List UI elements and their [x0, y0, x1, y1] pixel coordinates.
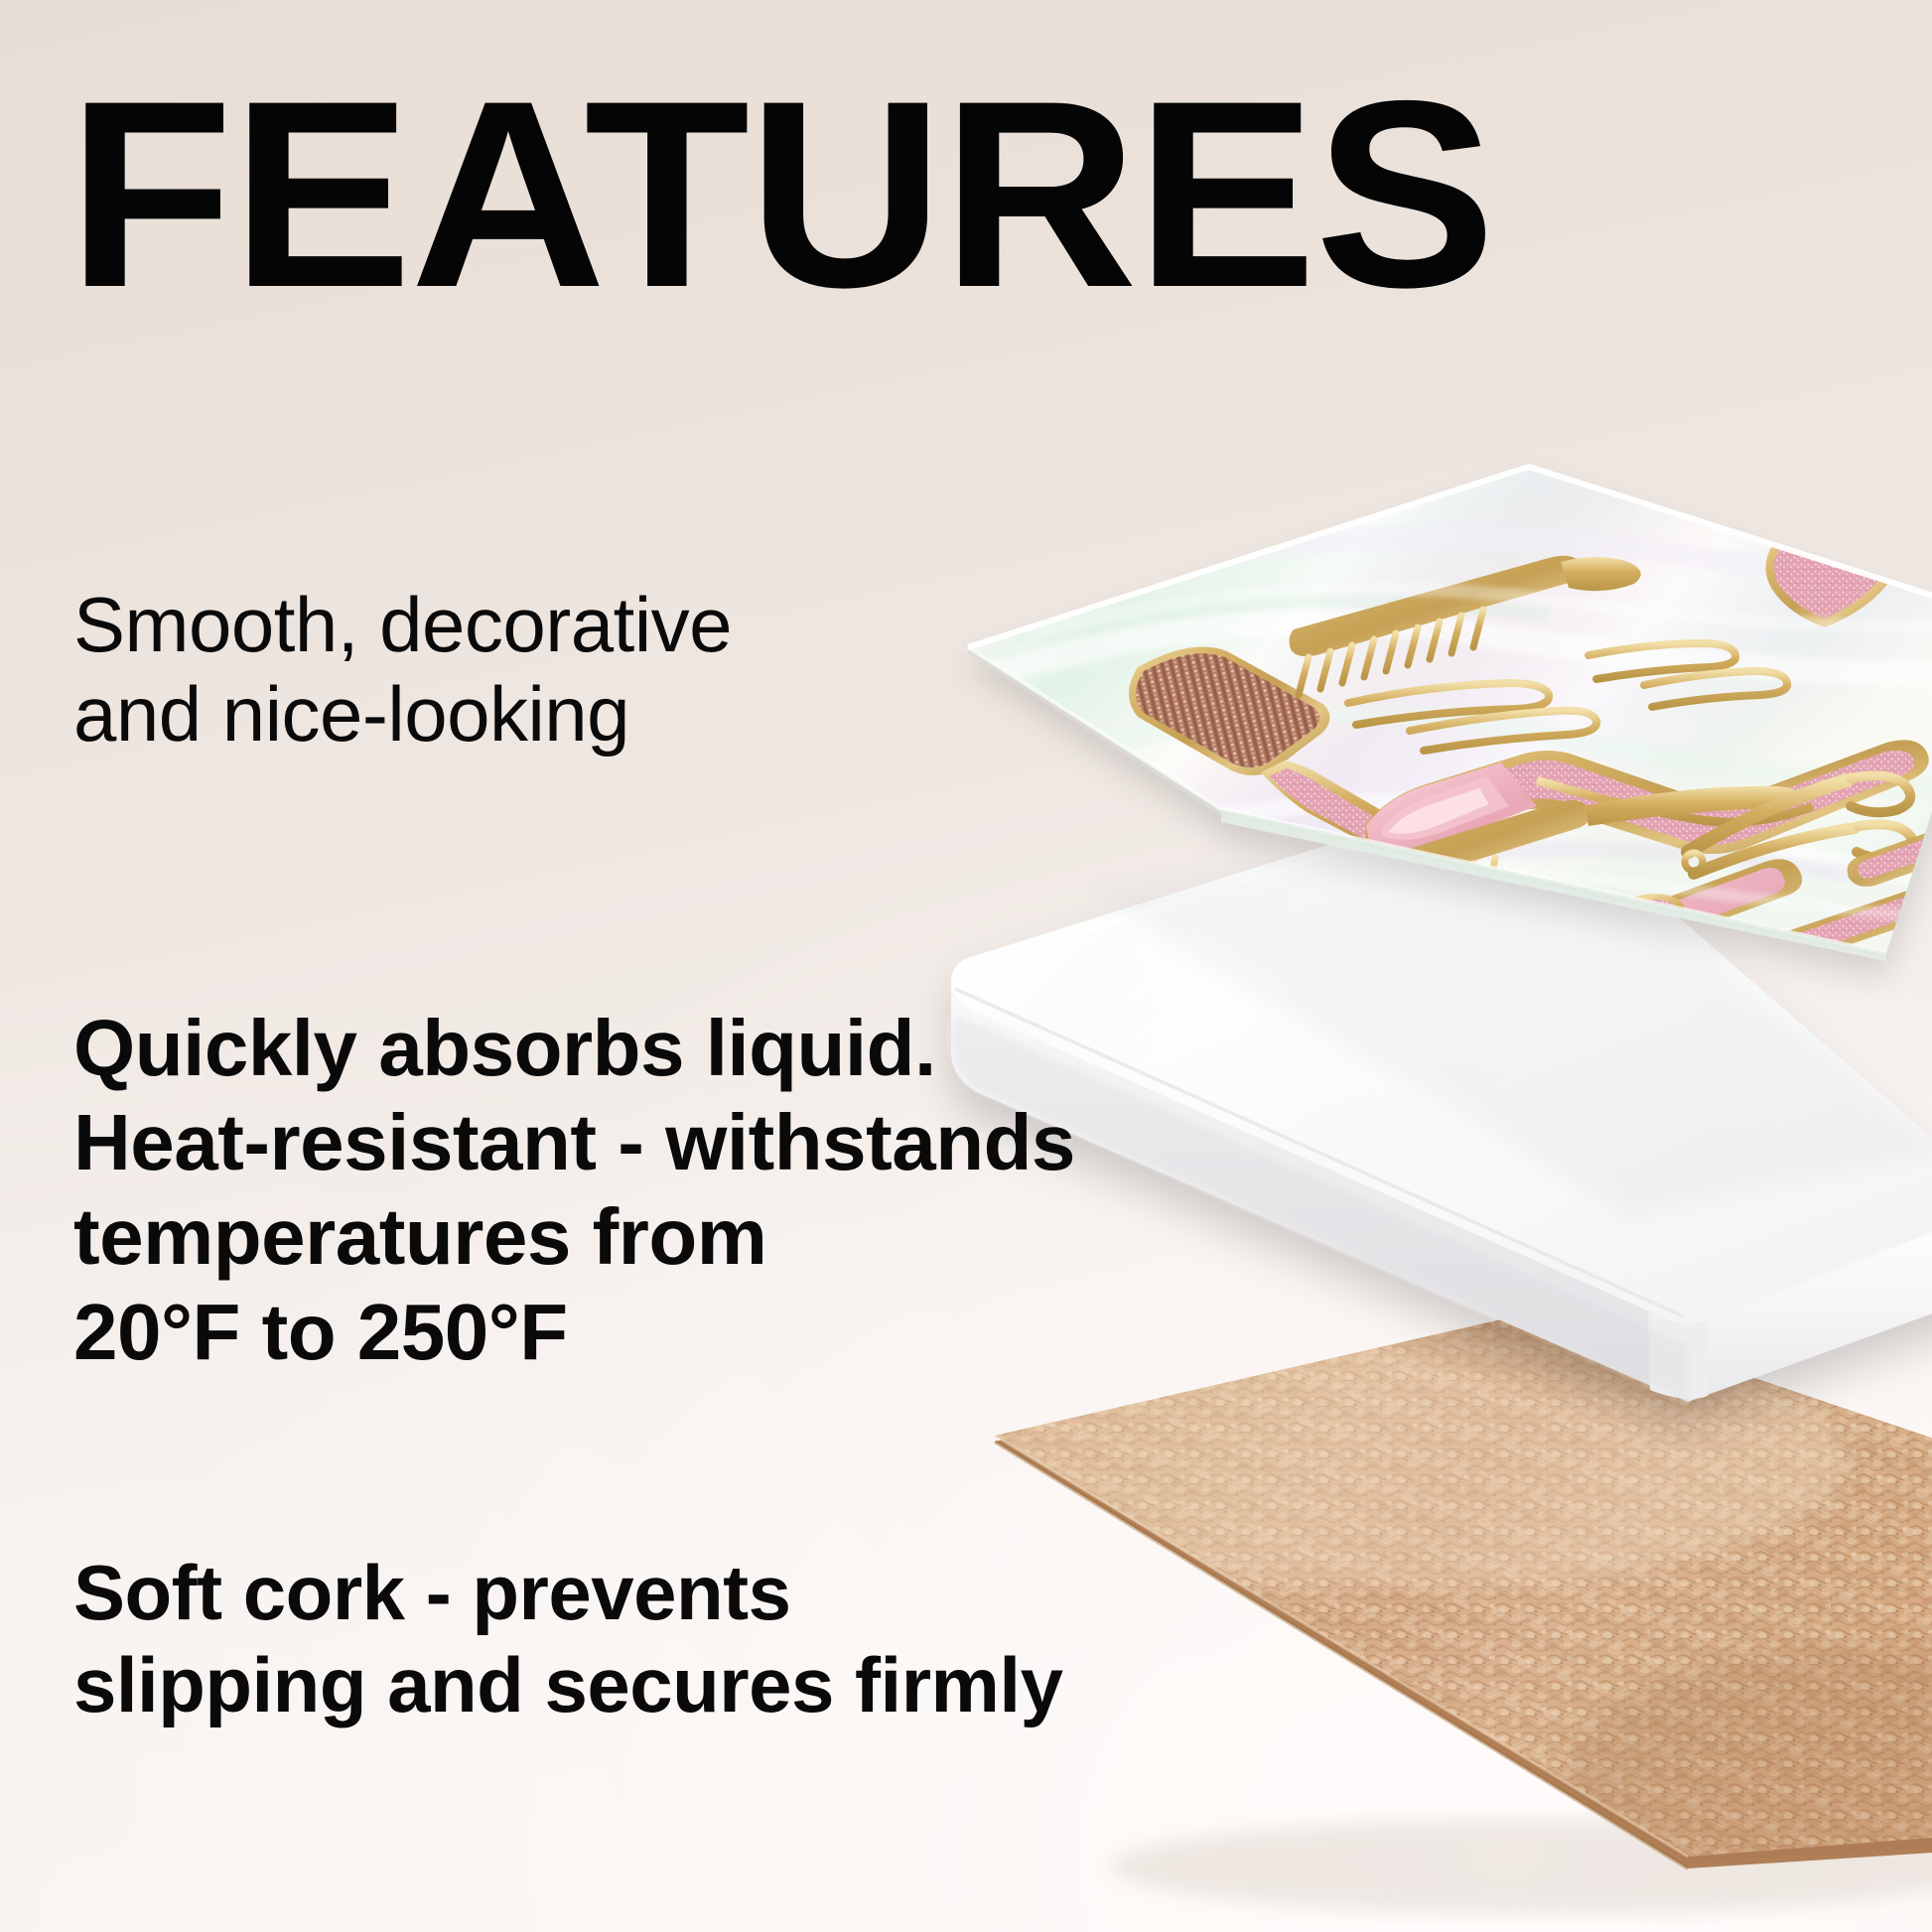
flat-iron-motif	[1428, 859, 1802, 1005]
infographic-canvas: FEATURES	[0, 0, 1932, 1932]
hair-dryer-motif	[1366, 740, 1929, 854]
tail-comb-motif	[1322, 786, 1799, 937]
scissors-motif	[1685, 775, 1913, 874]
heart-motif	[1765, 529, 1894, 627]
glass-top-layer	[968, 467, 1932, 1005]
feature-line: Soft cork - prevents	[73, 1547, 1062, 1639]
ceramic-layer	[951, 791, 1932, 1403]
feature-line: and nice-looking	[73, 669, 732, 759]
glitter-bar-motif	[1775, 884, 1932, 962]
cork-layer	[993, 1291, 1932, 1914]
feature-text-absorbent-heat-resistant: Quickly absorbs liquid. Heat-resistant -…	[73, 1001, 1075, 1379]
feature-line: 20°F to 250°F	[73, 1285, 1075, 1379]
page-title: FEATURES	[68, 71, 1494, 317]
hair-brush-motif	[1129, 647, 1408, 853]
feature-line: temperatures from	[73, 1189, 1075, 1284]
feature-text-decorative: Smooth, decorative and nice-looking	[73, 580, 732, 759]
bobby-pin-motif	[1348, 643, 1787, 751]
feature-line: Heat-resistant - withstands	[73, 1095, 1075, 1189]
feature-line: Smooth, decorative	[73, 580, 732, 669]
comb-motif	[1290, 556, 1641, 695]
feature-text-cork-base: Soft cork - prevents slipping and secure…	[73, 1547, 1062, 1731]
feature-line: Quickly absorbs liquid.	[73, 1001, 1075, 1095]
feature-line: slipping and secures firmly	[73, 1639, 1062, 1731]
glitter-patch-motif	[1848, 824, 1932, 887]
